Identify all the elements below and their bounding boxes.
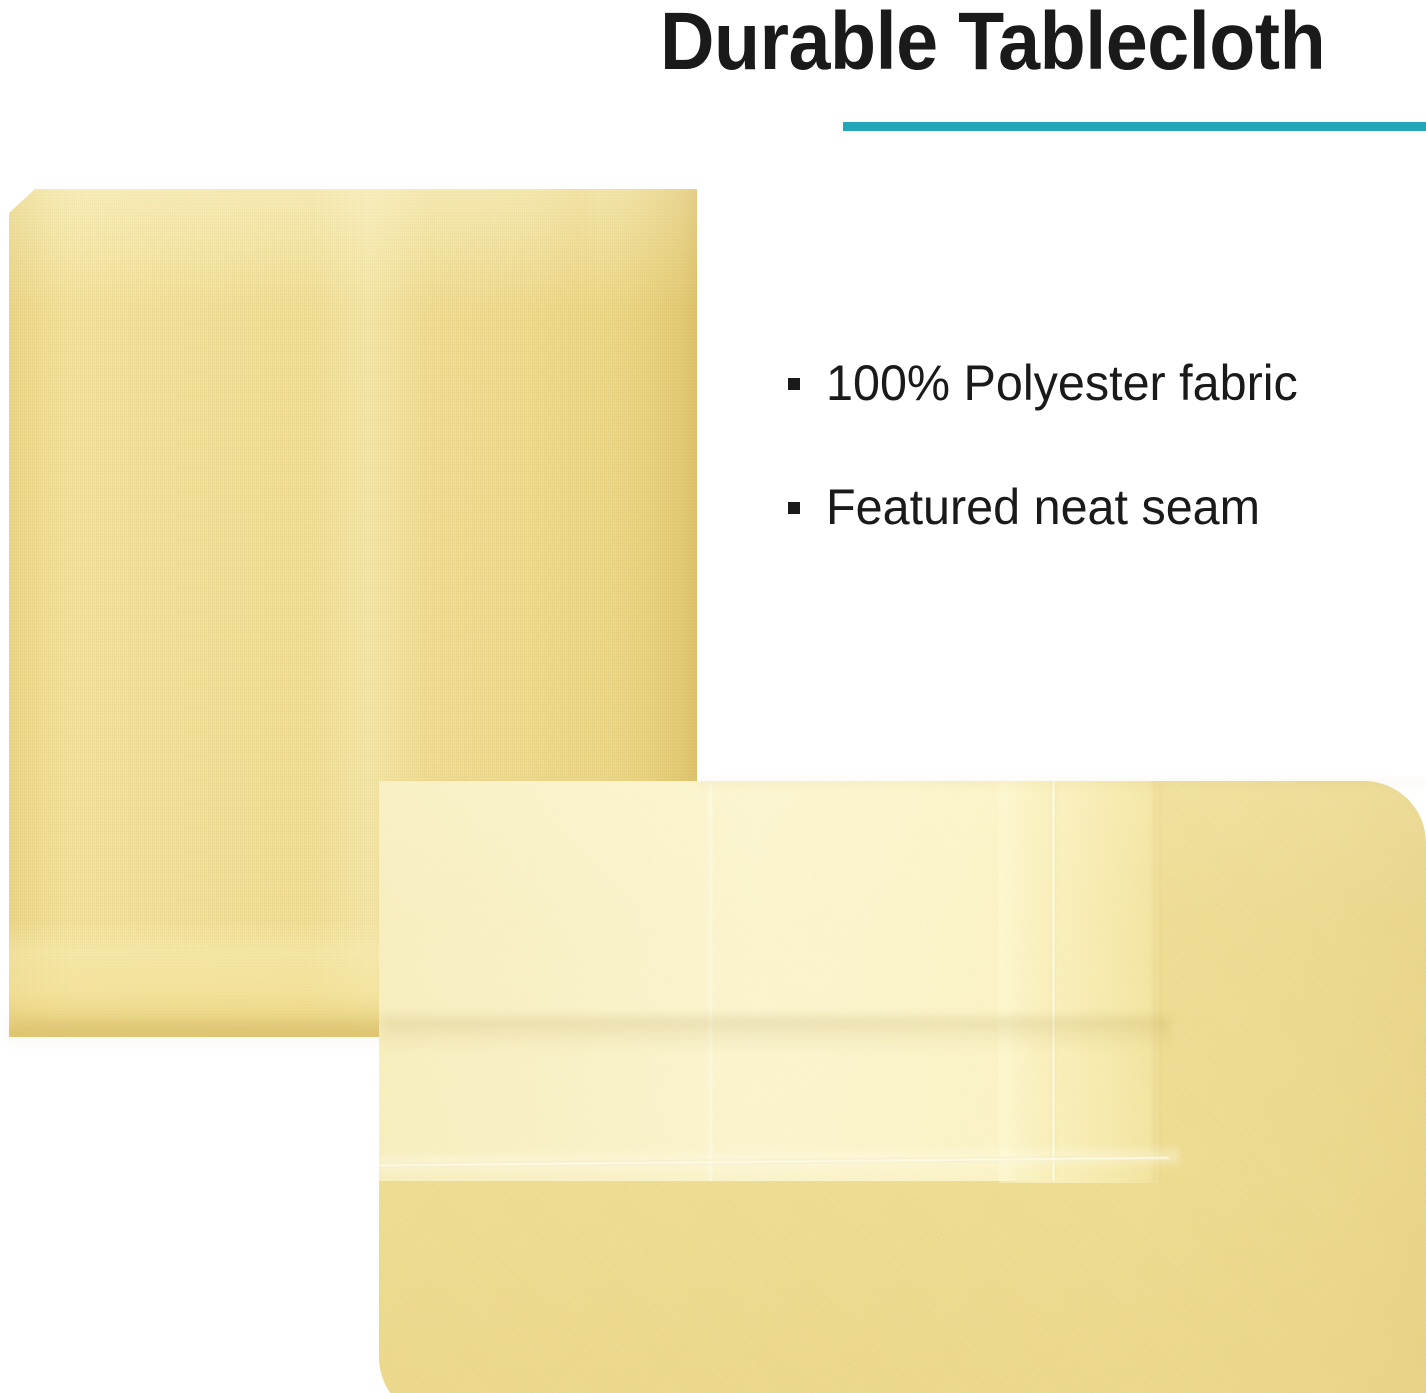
square-bullet-icon xyxy=(788,502,800,514)
fabric-crease-center xyxy=(709,781,712,1181)
fabric-left-fold-shade xyxy=(9,189,69,1037)
feature-label: Featured neat seam xyxy=(826,476,1260,538)
fabric-bottom-sheen xyxy=(379,1221,1426,1393)
square-bullet-icon xyxy=(788,378,800,390)
feature-label: 100% Polyester fabric xyxy=(826,352,1298,414)
list-item: Featured neat seam xyxy=(788,476,1408,538)
list-item: 100% Polyester fabric xyxy=(788,352,1408,414)
fabric-crease-left xyxy=(529,781,531,1179)
hem-flap-highlight xyxy=(379,781,1057,1181)
flat-tablecloth-hem-image xyxy=(379,781,1426,1393)
page-title: Durable Tablecloth xyxy=(660,0,1365,90)
feature-list: 100% Polyester fabric Featured neat seam xyxy=(788,352,1408,600)
sheet-top-edge-shadow xyxy=(700,779,1426,789)
hem-seam-vertical xyxy=(1051,781,1056,1181)
stack-cast-shadow xyxy=(379,1017,1169,1051)
product-feature-image: Durable Tablecloth 100% Polyester fabric… xyxy=(0,0,1426,1393)
title-accent-rule xyxy=(843,122,1426,131)
